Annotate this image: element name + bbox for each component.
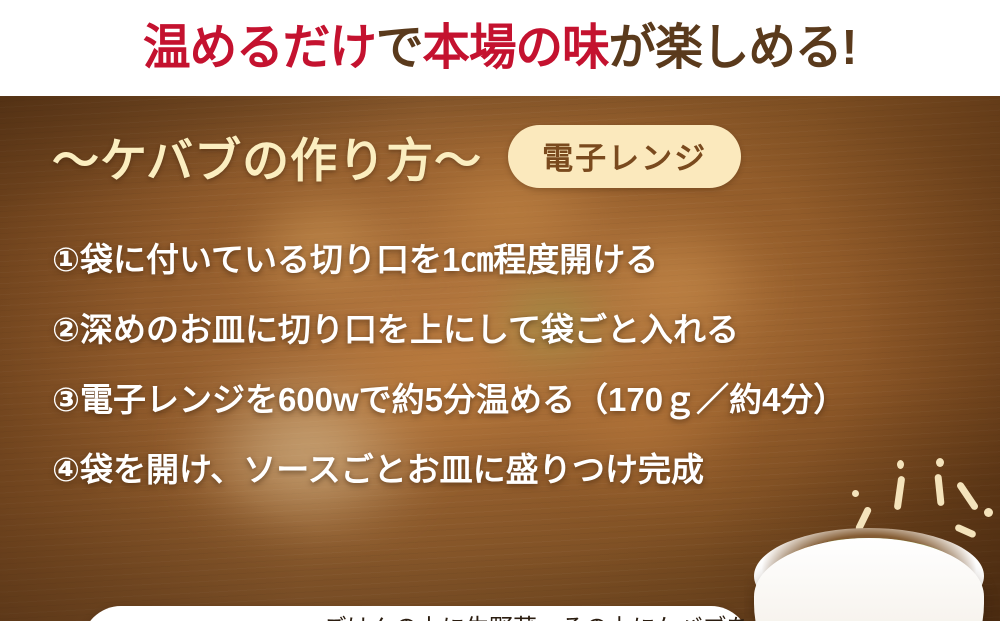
arrangement-line-1: ごはんの上に生野菜、その上にケバブを [323,613,750,621]
step-item-1: ①袋に付いている切り口を1㎝程度開ける [52,224,952,294]
headline-segment-4: が楽しめる! [609,21,857,75]
arrangement-text: ごはんの上に生野菜、その上にケバブを 乗せれば当店名物［ケバブライス］に。 [323,613,750,621]
step-item-3: ③電子レンジを600wで約5分温める（170ｇ／約4分） [52,364,952,434]
headline-segment-1: 温めるだけ [143,21,376,75]
section-title: 〜ケバブの作り方〜 [52,122,482,191]
arrangement-callout: Arrangement ごはんの上に生野菜、その上にケバブを 乗せれば当店名物［… [82,606,750,621]
section-title-row: 〜ケバブの作り方〜 電子レンジ [52,122,741,191]
step-item-2: ②深めのお皿に切り口を上にして袋ごと入れる [52,294,952,364]
instruction-panel: 〜ケバブの作り方〜 電子レンジ ①袋に付いている切り口を1㎝程度開ける ②深めの… [0,96,1000,621]
kebab-rice-bowl-photo [744,500,1000,621]
headline-segment-3: 本場の味 [423,21,609,75]
headline-band: 温めるだけで本場の味が楽しめる! [0,0,1000,96]
headline-segment-2: で [376,21,423,75]
recipe-instruction-banner: 温めるだけで本場の味が楽しめる! 〜ケバブの作り方〜 電子レンジ ①袋に付いてい… [0,0,1000,621]
steps-list: ①袋に付いている切り口を1㎝程度開ける ②深めのお皿に切り口を上にして袋ごと入れ… [52,224,952,504]
cooking-mode-badge: 電子レンジ [508,125,741,188]
step-item-4: ④袋を開け、ソースごとお皿に盛りつけ完成 [52,434,952,504]
page-title: 温めるだけで本場の味が楽しめる! [143,24,856,73]
